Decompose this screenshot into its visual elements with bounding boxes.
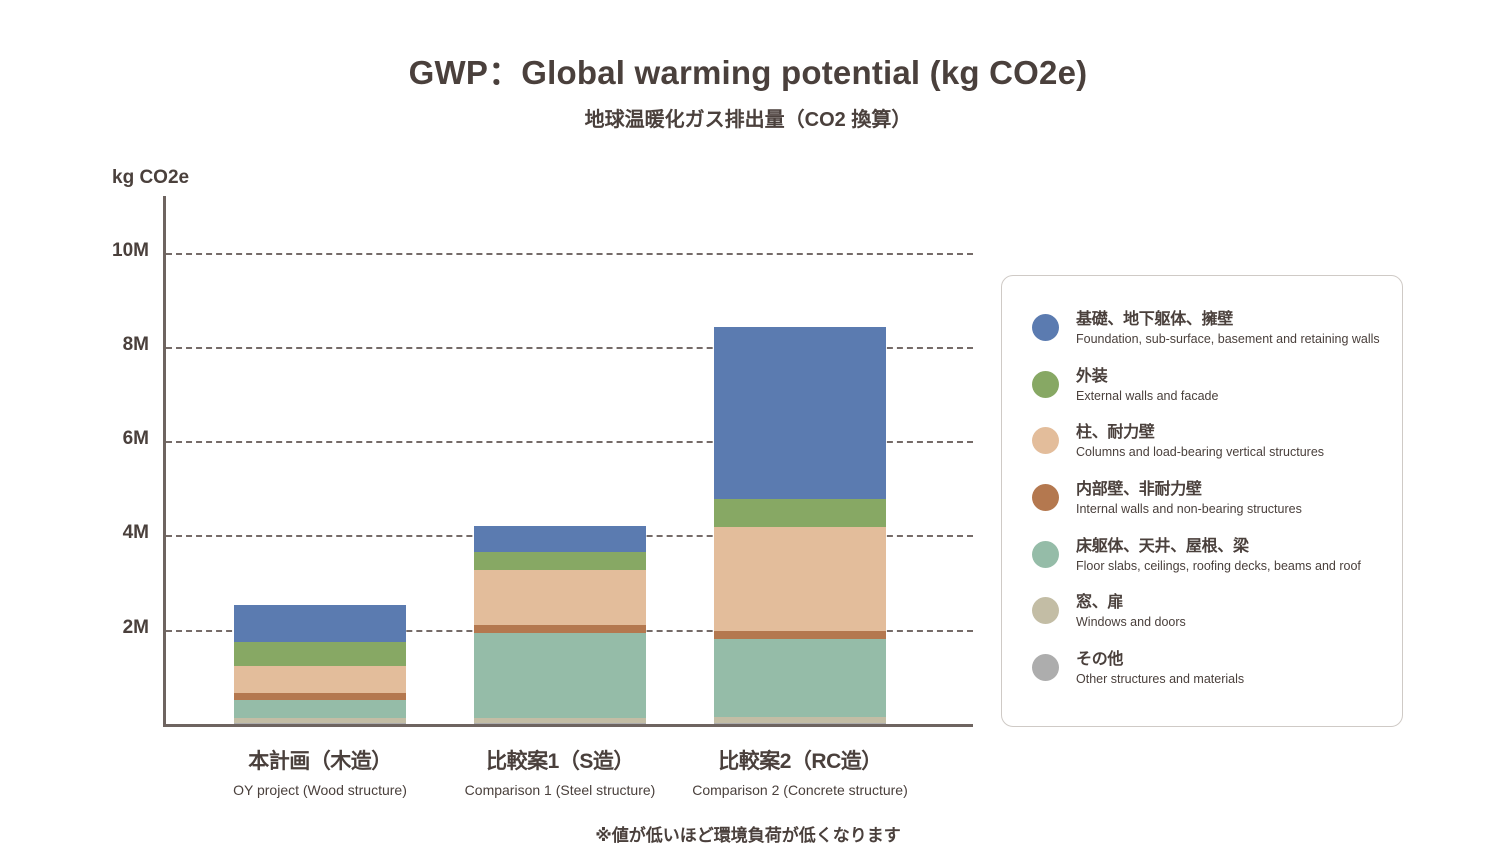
legend-label-ja: 基礎、地下躯体、擁壁 xyxy=(1076,310,1380,330)
bar-3 xyxy=(714,327,886,724)
legend-item-6[interactable]: 窓、扉Windows and doors xyxy=(1032,593,1402,631)
legend-item-1[interactable]: 基礎、地下躯体、擁壁Foundation, sub-surface, basem… xyxy=(1032,310,1402,348)
x-label-ja: 比較案2（RC造） xyxy=(670,745,930,775)
legend-swatch-icon xyxy=(1032,484,1059,511)
legend-swatch-icon xyxy=(1032,427,1059,454)
y-axis-unit-label: kg CO2e xyxy=(112,167,189,189)
legend-text: 基礎、地下躯体、擁壁Foundation, sub-surface, basem… xyxy=(1076,310,1380,348)
x-label-en: OY project (Wood structure) xyxy=(190,782,450,798)
bar-segment xyxy=(474,723,646,724)
legend-item-3[interactable]: 柱、耐力壁Columns and load-bearing vertical s… xyxy=(1032,423,1402,461)
legend-label-ja: 外装 xyxy=(1076,367,1218,387)
gridline xyxy=(166,253,973,255)
legend-swatch-icon xyxy=(1032,654,1059,681)
legend-label-ja: その他 xyxy=(1076,650,1244,670)
legend-item-2[interactable]: 外装External walls and facade xyxy=(1032,367,1402,405)
legend-item-7[interactable]: その他Other structures and materials xyxy=(1032,650,1402,688)
legend-label-en: Columns and load-bearing vertical struct… xyxy=(1076,445,1324,461)
legend-item-4[interactable]: 内部壁、非耐力壁Internal walls and non-bearing s… xyxy=(1032,480,1402,518)
bar-segment xyxy=(714,639,886,717)
chart-title: GWP：Global warming potential (kg CO2e) xyxy=(0,46,1496,94)
bar-segment xyxy=(234,723,406,724)
legend-label-en: Floor slabs, ceilings, roofing decks, be… xyxy=(1076,559,1361,575)
bar-segment xyxy=(474,633,646,718)
legend-label-en: Windows and doors xyxy=(1076,615,1186,631)
bar-segment xyxy=(234,605,406,642)
legend-swatch-icon xyxy=(1032,314,1059,341)
y-axis-tick-label: 6M xyxy=(53,428,149,450)
plot-area: 2M4M6M8M10M xyxy=(163,196,973,727)
bar-segment xyxy=(474,552,646,570)
y-axis-tick-label: 2M xyxy=(53,617,149,639)
legend-text: 床躯体、天井、屋根、梁Floor slabs, ceilings, roofin… xyxy=(1076,537,1361,575)
legend-label-ja: 床躯体、天井、屋根、梁 xyxy=(1076,537,1361,557)
x-axis-label-2: 比較案1（S造）Comparison 1 (Steel structure) xyxy=(430,745,690,798)
legend-swatch-icon xyxy=(1032,541,1059,568)
legend-text: 外装External walls and facade xyxy=(1076,367,1218,405)
x-label-ja: 比較案1（S造） xyxy=(430,745,690,775)
x-label-en: Comparison 1 (Steel structure) xyxy=(430,782,690,798)
legend-text: 柱、耐力壁Columns and load-bearing vertical s… xyxy=(1076,423,1324,461)
legend-label-en: Internal walls and non-bearing structure… xyxy=(1076,502,1302,518)
bar-1 xyxy=(234,605,406,724)
legend-label-ja: 内部壁、非耐力壁 xyxy=(1076,480,1302,500)
x-label-ja: 本計画（木造） xyxy=(190,745,450,775)
bar-2 xyxy=(474,526,646,724)
legend-panel: 基礎、地下躯体、擁壁Foundation, sub-surface, basem… xyxy=(1001,275,1403,727)
bar-segment xyxy=(234,642,406,666)
legend-label-en: External walls and facade xyxy=(1076,389,1218,405)
x-axis-label-1: 本計画（木造）OY project (Wood structure) xyxy=(190,745,450,798)
legend-label-ja: 柱、耐力壁 xyxy=(1076,423,1324,443)
y-axis-line xyxy=(163,196,166,727)
x-axis-label-3: 比較案2（RC造）Comparison 2 (Concrete structur… xyxy=(670,745,930,798)
legend-swatch-icon xyxy=(1032,371,1059,398)
bar-segment xyxy=(474,625,646,633)
bar-segment xyxy=(234,700,406,719)
chart-footnote: ※値が低いほど環境負荷が低くなります xyxy=(0,821,1496,846)
y-axis-tick-label: 10M xyxy=(53,240,149,262)
bar-segment xyxy=(234,666,406,693)
chart-subtitle: 地球温暖化ガス排出量（CO2 換算） xyxy=(0,103,1496,132)
bar-segment xyxy=(714,527,886,631)
y-axis-tick-label: 4M xyxy=(53,522,149,544)
bar-segment xyxy=(714,723,886,724)
legend-text: 内部壁、非耐力壁Internal walls and non-bearing s… xyxy=(1076,480,1302,518)
bar-segment xyxy=(714,499,886,526)
bar-segment xyxy=(714,631,886,639)
legend-label-ja: 窓、扉 xyxy=(1076,593,1186,613)
bar-segment xyxy=(474,570,646,625)
x-label-en: Comparison 2 (Concrete structure) xyxy=(670,782,930,798)
legend-label-en: Foundation, sub-surface, basement and re… xyxy=(1076,332,1380,348)
bar-segment xyxy=(474,526,646,552)
y-axis-tick-label: 8M xyxy=(53,334,149,356)
bar-segment xyxy=(714,327,886,499)
legend-swatch-icon xyxy=(1032,597,1059,624)
legend-text: 窓、扉Windows and doors xyxy=(1076,593,1186,631)
legend-text: その他Other structures and materials xyxy=(1076,650,1244,688)
legend-item-5[interactable]: 床躯体、天井、屋根、梁Floor slabs, ceilings, roofin… xyxy=(1032,537,1402,575)
x-axis-line xyxy=(163,724,973,727)
legend-label-en: Other structures and materials xyxy=(1076,672,1244,688)
